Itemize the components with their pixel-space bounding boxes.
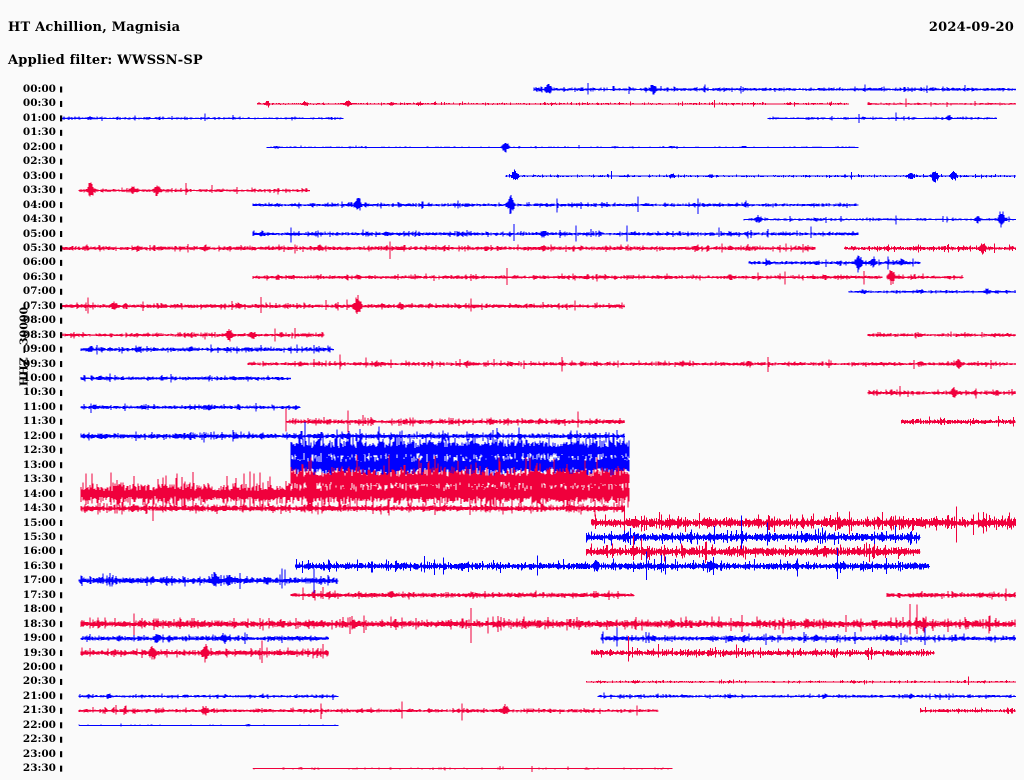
- seismic-trace: [598, 693, 1016, 700]
- seismic-trace: [887, 589, 1016, 601]
- time-tick-label: 05:00: [10, 228, 56, 240]
- seismic-trace: [253, 766, 673, 772]
- seismic-trace: [79, 693, 339, 700]
- axis-tick: [60, 722, 62, 728]
- time-tick-label: 10:30: [10, 386, 56, 398]
- time-tick-label: 10:00: [10, 372, 56, 384]
- time-tick-label: 06:30: [10, 271, 56, 283]
- seismic-trace: [291, 587, 634, 601]
- seismic-trace: [62, 328, 324, 342]
- time-tick-label: 21:00: [10, 690, 56, 702]
- seismic-trace: [868, 98, 1016, 107]
- time-tick-label: 09:00: [10, 343, 56, 355]
- time-tick-label: 22:30: [10, 733, 56, 745]
- time-tick-label: 16:30: [10, 560, 56, 572]
- seismic-trace: [744, 211, 1016, 227]
- axis-tick: [60, 419, 62, 425]
- time-tick-label: 12:30: [10, 444, 56, 456]
- seismic-trace: [81, 345, 334, 355]
- axis-tick: [60, 130, 62, 136]
- axis-tick: [60, 578, 62, 584]
- axis-tick: [60, 274, 62, 280]
- axis-tick: [60, 332, 62, 338]
- seismic-trace: [62, 114, 343, 122]
- tick-marks-layer: [60, 87, 62, 772]
- time-tick-label: 13:00: [10, 459, 56, 471]
- axis-tick: [60, 491, 62, 497]
- time-tick-label: 19:30: [10, 647, 56, 659]
- seismic-trace: [253, 268, 883, 285]
- time-tick-label: 08:30: [10, 329, 56, 341]
- time-tick-label: 03:30: [10, 184, 56, 196]
- time-tick-label: 01:30: [10, 126, 56, 138]
- axis-tick: [60, 621, 62, 627]
- trace-layer: [62, 83, 1016, 772]
- seismic-trace: [253, 224, 859, 242]
- axis-tick: [60, 101, 62, 107]
- axis-tick: [60, 303, 62, 309]
- time-tick-label: 02:30: [10, 155, 56, 167]
- time-tick-label: 19:00: [10, 632, 56, 644]
- axis-tick: [60, 549, 62, 555]
- seismic-trace: [921, 707, 1016, 714]
- seismic-trace: [286, 408, 625, 432]
- time-tick-label: 11:00: [10, 401, 56, 413]
- time-tick-label: 06:00: [10, 256, 56, 268]
- time-tick-label: 02:00: [10, 141, 56, 153]
- axis-tick: [60, 404, 62, 410]
- time-tick-label: 05:30: [10, 242, 56, 254]
- axis-tick: [60, 665, 62, 671]
- axis-tick: [60, 592, 62, 598]
- axis-tick: [60, 737, 62, 743]
- axis-tick: [60, 477, 62, 483]
- seismic-trace: [849, 288, 1016, 294]
- axis-tick: [60, 433, 62, 439]
- axis-tick: [60, 636, 62, 642]
- time-tick-label: 16:00: [10, 545, 56, 557]
- axis-tick: [60, 217, 62, 223]
- time-tick-label: 22:00: [10, 719, 56, 731]
- time-tick-label: 04:00: [10, 199, 56, 211]
- seismic-trace: [506, 169, 1016, 182]
- axis-tick: [60, 506, 62, 512]
- axis-tick: [60, 231, 62, 237]
- seismogram-page: HT Achillion, Magnisia Applied filter: W…: [0, 0, 1024, 780]
- time-tick-label: 18:30: [10, 618, 56, 630]
- seismic-trace: [253, 195, 859, 214]
- seismogram-plot: [0, 0, 1024, 780]
- time-tick-label: 00:30: [10, 97, 56, 109]
- seismic-trace: [534, 83, 1016, 95]
- time-tick-label: 14:30: [10, 502, 56, 514]
- axis-tick: [60, 159, 62, 165]
- seismic-trace: [79, 702, 658, 721]
- time-tick-label: 17:00: [10, 574, 56, 586]
- axis-tick: [60, 534, 62, 540]
- time-tick-label: 01:00: [10, 112, 56, 124]
- seismic-trace: [79, 183, 310, 197]
- time-tick-label: 11:30: [10, 415, 56, 427]
- seismic-trace: [868, 332, 1016, 339]
- time-tick-label: 14:00: [10, 488, 56, 500]
- time-tick-label: 04:30: [10, 213, 56, 225]
- seismic-trace: [81, 641, 329, 664]
- seismic-trace: [601, 627, 1016, 646]
- seismic-trace: [248, 354, 1016, 372]
- time-tick-label: 23:00: [10, 748, 56, 760]
- seismic-trace: [79, 724, 339, 727]
- axis-tick: [60, 245, 62, 251]
- seismic-trace: [62, 295, 625, 314]
- seismic-trace: [587, 677, 1016, 685]
- time-tick-label: 23:30: [10, 762, 56, 774]
- axis-tick: [60, 708, 62, 714]
- time-tick-label: 18:00: [10, 603, 56, 615]
- time-tick-label: 17:30: [10, 589, 56, 601]
- axis-tick: [60, 448, 62, 454]
- time-tick-label: 20:30: [10, 675, 56, 687]
- axis-tick: [60, 693, 62, 699]
- time-tick-label: 13:30: [10, 473, 56, 485]
- seismic-trace: [887, 270, 963, 285]
- axis-tick: [60, 766, 62, 772]
- seismic-trace: [81, 633, 329, 644]
- time-tick-label: 15:00: [10, 517, 56, 529]
- axis-tick: [60, 144, 62, 150]
- time-tick-label: 08:00: [10, 314, 56, 326]
- axis-tick: [60, 115, 62, 121]
- axis-tick: [60, 520, 62, 526]
- time-tick-label: 21:30: [10, 704, 56, 716]
- seismic-trace: [62, 242, 816, 259]
- seismic-trace: [868, 386, 1016, 398]
- axis-tick: [60, 607, 62, 613]
- time-tick-label: 03:00: [10, 170, 56, 182]
- axis-tick: [60, 376, 62, 382]
- seismic-trace: [81, 403, 300, 413]
- seismic-trace: [267, 143, 859, 153]
- time-tick-label: 07:00: [10, 285, 56, 297]
- axis-tick: [60, 462, 62, 468]
- seismic-trace: [768, 113, 997, 124]
- axis-tick: [60, 390, 62, 396]
- seismic-trace: [79, 568, 339, 598]
- seismic-trace: [258, 100, 849, 108]
- time-tick-label: 07:30: [10, 300, 56, 312]
- time-tick-label: 15:30: [10, 531, 56, 543]
- axis-tick: [60, 188, 62, 194]
- seismic-trace: [81, 373, 291, 382]
- axis-tick: [60, 173, 62, 179]
- axis-tick: [60, 202, 62, 208]
- axis-tick: [60, 347, 62, 353]
- axis-tick: [60, 289, 62, 295]
- time-tick-label: 12:00: [10, 430, 56, 442]
- time-tick-label: 00:00: [10, 83, 56, 95]
- axis-tick: [60, 650, 62, 656]
- seismic-trace: [844, 243, 1016, 254]
- axis-tick: [60, 563, 62, 569]
- axis-tick: [60, 87, 62, 93]
- axis-tick: [60, 260, 62, 266]
- axis-tick: [60, 679, 62, 685]
- time-tick-label: 20:00: [10, 661, 56, 673]
- seismic-trace: [902, 416, 1017, 426]
- seismic-trace: [749, 256, 921, 273]
- axis-tick: [60, 361, 62, 367]
- axis-tick: [60, 318, 62, 324]
- axis-tick: [60, 751, 62, 757]
- time-tick-label: 09:30: [10, 358, 56, 370]
